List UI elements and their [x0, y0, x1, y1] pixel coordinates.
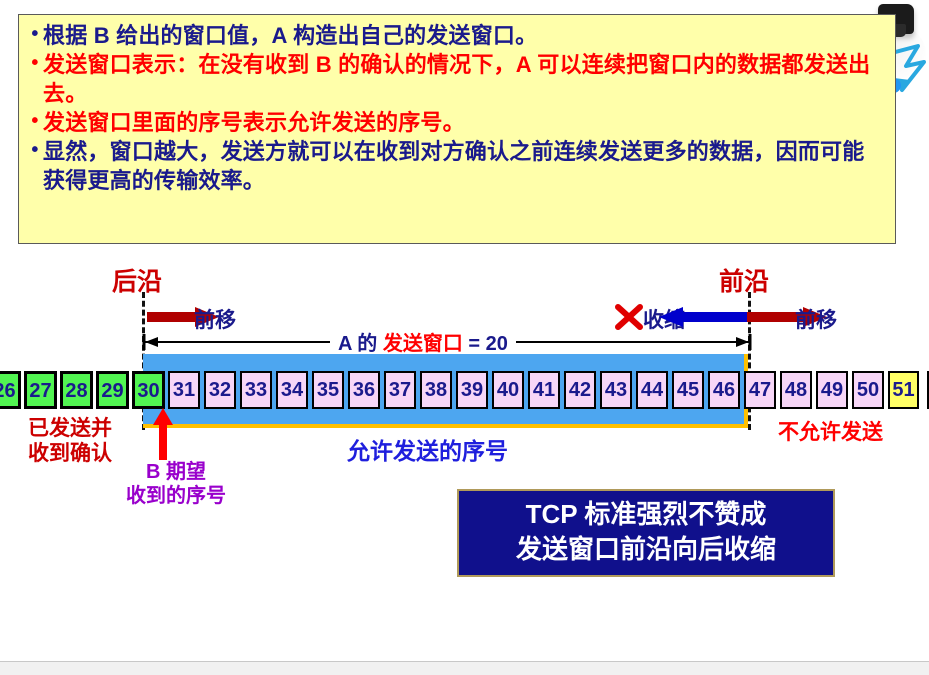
window-cell: 48: [780, 371, 812, 409]
bullet-text-2: 发送窗口表示：在没有收到 B 的确认的情况下，A 可以连续把窗口内的数据都发送出…: [43, 50, 885, 108]
callout-line2: 发送窗口前沿向后收缩: [459, 532, 833, 567]
acked-cell: 30: [132, 371, 165, 409]
bullet-text-4: 显然，窗口越大，发送方就可以在收到对方确认之前连续发送更多的数据，因而可能获得更…: [43, 137, 885, 195]
leading-edge-shrink-arrow-icon: [659, 306, 751, 328]
b-expected-label: B 期望 收到的序号: [106, 460, 246, 508]
window-label-highlight: 发送窗口: [383, 333, 463, 355]
acked-cell: 27: [24, 371, 57, 409]
bullet-marker-icon: •: [27, 21, 43, 48]
window-cell: 34: [276, 371, 308, 409]
allowed-region-label: 允许发送的序号: [347, 432, 508, 466]
window-cell: 40: [492, 371, 524, 409]
b-expected-line2: 收到的序号: [106, 484, 246, 508]
window-cell: 44: [636, 371, 668, 409]
window-label-prefix: A 的: [338, 333, 377, 355]
slide-canvas: • 根据 B 给出的窗口值，A 构造出自己的发送窗口。 • 发送窗口表示：在没有…: [0, 0, 929, 675]
bullet-text-1: 根据 B 给出的窗口值，A 构造出自己的发送窗口。: [43, 21, 885, 50]
b-expected-line1: B 期望: [106, 460, 246, 484]
window-cell: 36: [348, 371, 380, 409]
window-cell: 49: [816, 371, 848, 409]
sliding-window-diagram: 后沿 前沿 前移 收缩 前移: [0, 248, 929, 608]
window-cell: 39: [456, 371, 488, 409]
bullet-marker-icon: •: [27, 137, 43, 164]
trailing-edge-forward-label: 前移: [194, 304, 236, 334]
b-expected-pointer-arrow-icon: [152, 408, 174, 460]
bullet-item-1: • 根据 B 给出的窗口值，A 构造出自己的发送窗口。: [27, 21, 885, 50]
window-cell: 33: [240, 371, 272, 409]
forbidden-x-icon: [615, 304, 643, 330]
acked-cell: 29: [96, 371, 129, 409]
trailing-edge-label: 后沿: [112, 262, 162, 298]
window-cell: 42: [564, 371, 596, 409]
bullet-marker-icon: •: [27, 108, 43, 135]
bullet-item-2: • 发送窗口表示：在没有收到 B 的确认的情况下，A 可以连续把窗口内的数据都发…: [27, 50, 885, 108]
bullet-item-3: • 发送窗口里面的序号表示允许发送的序号。: [27, 108, 885, 137]
callout-line1: TCP 标准强烈不赞成: [459, 497, 833, 532]
bottom-status-strip: [0, 661, 929, 675]
bullet-item-4: • 显然，窗口越大，发送方就可以在收到对方确认之前连续发送更多的数据，因而可能获…: [27, 137, 885, 195]
sequence-number-row: 2627282930313233343536373839404142434445…: [0, 371, 929, 411]
acked-label-line1: 已发送并: [10, 416, 130, 441]
window-cell: 50: [852, 371, 884, 409]
leading-edge-label: 前沿: [719, 262, 769, 298]
window-size-label: A 的 发送窗口 = 20: [330, 327, 516, 356]
window-cell: 43: [600, 371, 632, 409]
window-cell: 37: [384, 371, 416, 409]
window-cell: 47: [744, 371, 776, 409]
window-label-suffix: = 20: [468, 333, 507, 355]
bullet-text-3: 发送窗口里面的序号表示允许发送的序号。: [43, 108, 885, 137]
acked-cell: 26: [0, 371, 21, 409]
window-cell: 38: [420, 371, 452, 409]
window-cell: 31: [168, 371, 200, 409]
tcp-standard-callout: TCP 标准强烈不赞成 发送窗口前沿向后收缩: [457, 489, 835, 577]
window-cell: 32: [204, 371, 236, 409]
leading-edge-forward-label: 前移: [795, 304, 837, 334]
window-cell: 45: [672, 371, 704, 409]
not-allowed-region-label: 不允许发送: [778, 416, 883, 446]
acked-region-label: 已发送并 收到确认: [10, 416, 130, 466]
bullet-marker-icon: •: [27, 50, 43, 77]
window-cell: 35: [312, 371, 344, 409]
blocked-cell: 51: [888, 371, 919, 409]
window-cell: 46: [708, 371, 740, 409]
acked-cell: 28: [60, 371, 93, 409]
window-cell: 41: [528, 371, 560, 409]
bullet-panel: • 根据 B 给出的窗口值，A 构造出自己的发送窗口。 • 发送窗口表示：在没有…: [18, 14, 896, 244]
